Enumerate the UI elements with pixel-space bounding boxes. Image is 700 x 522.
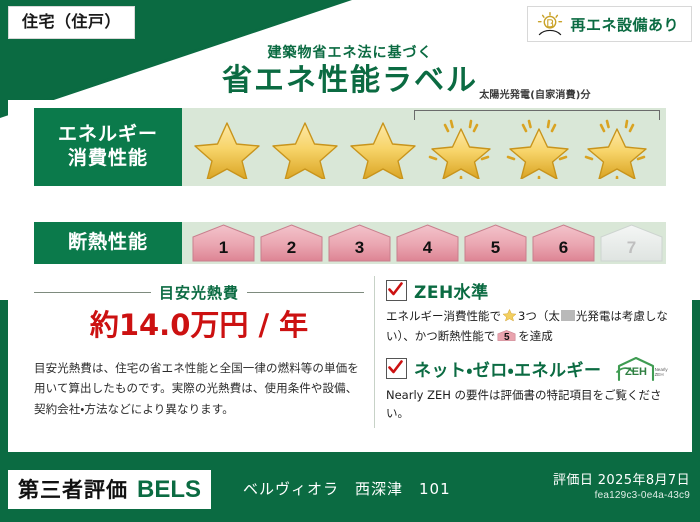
house-level-number: 4 — [394, 238, 461, 258]
house-icon: 2 — [258, 224, 325, 262]
record-id: fea129c3-0e4a-43c9 — [553, 490, 690, 501]
solar-generation-caption: 太陽光発電(自家消費)分 — [410, 86, 660, 101]
zeh-panel: ZEH水準 エネルギー消費性能で3つ（太光発電は考慮しない）、かつ断熱性能で5を… — [386, 278, 672, 433]
heading-rule-right — [247, 292, 364, 293]
house-icon-inline: 5 — [497, 328, 516, 343]
zeh-standard-title-row: ZEH水準 — [386, 278, 672, 303]
star-solar-icon — [580, 117, 654, 179]
energy-performance-tag: エネルギー 消費性能 — [34, 108, 182, 186]
net-zero-energy-item: ネット・ゼロ・エネルギー ZEH NearlyZEH Nearly ZEH の要… — [386, 356, 672, 423]
energy-stars-panel: 太陽光発電(自家消費)分 — [182, 108, 666, 186]
house-level-number: 6 — [530, 238, 597, 258]
utility-cost-heading-row: 目安光熱費 — [34, 282, 364, 303]
house-icon-inactive: 7 — [598, 224, 665, 262]
heading-rule-left — [34, 292, 151, 293]
insulation-levels-panel: 1 2 3 — [182, 222, 666, 264]
energy-performance-label: 住宅（住戸） 再エネ設備あり 建築物省エネ法に基づく 省エネ性能ラベル — [0, 0, 700, 522]
label-main-card: エネルギー 消費性能 太陽光発電(自家消費)分 — [8, 100, 692, 452]
evaluation-date-label: 評価日 — [553, 473, 593, 488]
checkmark-icon — [386, 358, 407, 379]
renewable-equipment-badge: 再エネ設備あり — [527, 6, 692, 42]
utility-cost-heading: 目安光熱費 — [159, 282, 239, 303]
svg-text:ZEH: ZEH — [625, 366, 647, 378]
third-party-evaluation-badge: 第三者評価 BELS — [8, 470, 211, 509]
insulation-level-scale: 1 2 3 — [190, 224, 665, 262]
insulation-tag-label: 断熱性能 — [68, 231, 148, 255]
sun-icon — [537, 12, 563, 36]
panel-divider — [374, 276, 375, 428]
redacted-text-box — [561, 310, 575, 321]
renewable-equipment-label: 再エネ設備あり — [570, 14, 679, 35]
footer-meta: 評価日 2025年8月7日 fea129c3-0e4a-43c9 — [553, 469, 690, 501]
energy-tag-line2: 消費性能 — [68, 147, 148, 171]
utility-cost-block: 目安光熱費 約14.0万円 / 年 目安光熱費は、住宅の省エネ性能と全国一律の燃… — [34, 282, 364, 419]
star-icon — [346, 117, 420, 179]
house-level-number: 7 — [598, 238, 665, 258]
utility-cost-value: 約14.0万円 / 年 — [34, 309, 364, 342]
evaluation-date-value: 2025年8月7日 — [598, 473, 690, 488]
star-solar-icon — [424, 117, 498, 179]
utility-cost-note: 目安光熱費は、住宅の省エネ性能と全国一律の燃料等の単価を用いて算出したものです。… — [34, 358, 364, 418]
dwelling-type-label: 住宅（住戸） — [22, 12, 121, 31]
energy-star-rating — [190, 117, 654, 179]
star-icon-inline — [502, 307, 517, 327]
dwelling-type-badge: 住宅（住戸） — [8, 6, 135, 39]
house-icon: 3 — [326, 224, 393, 262]
net-zero-title-row: ネット・ゼロ・エネルギー ZEH NearlyZEH — [386, 356, 672, 382]
zeh-desc-part4: を達成 — [518, 329, 553, 343]
house-level-number: 1 — [190, 238, 257, 258]
house-level-number: 5 — [497, 330, 516, 346]
zeh-standard-description: エネルギー消費性能で3つ（太光発電は考慮しない）、かつ断熱性能で5を達成 — [386, 307, 672, 346]
property-name: ベルヴィオラ 西深津 101 — [243, 478, 451, 499]
zeh-logo-icon: ZEH NearlyZEH — [615, 356, 661, 382]
zeh-desc-part2: 3つ（太 — [518, 309, 560, 323]
house-icon: 5 — [462, 224, 529, 262]
house-icon: 4 — [394, 224, 461, 262]
net-zero-title: ネット・ゼロ・エネルギー — [414, 356, 602, 381]
third-party-evaluation-label: 第三者評価 — [18, 474, 128, 504]
energy-performance-row: エネルギー 消費性能 太陽光発電(自家消費)分 — [34, 108, 666, 186]
checkmark-icon — [386, 280, 407, 301]
house-level-number: 3 — [326, 238, 393, 258]
house-icon: 6 — [530, 224, 597, 262]
insulation-performance-row: 断熱性能 1 — [34, 222, 666, 264]
star-icon — [268, 117, 342, 179]
insulation-performance-tag: 断熱性能 — [34, 222, 182, 264]
zeh-desc-part1: エネルギー消費性能で — [386, 309, 501, 323]
evaluation-date: 評価日 2025年8月7日 — [553, 469, 690, 488]
bels-logo-text: BELS — [137, 476, 201, 504]
net-zero-description: Nearly ZEH の要件は評価書の特記項目をご覧ください。 — [386, 386, 672, 423]
label-footer: 第三者評価 BELS ベルヴィオラ 西深津 101 評価日 2025年8月7日 … — [0, 460, 700, 522]
energy-tag-line1: エネルギー — [58, 123, 158, 147]
house-icon: 1 — [190, 224, 257, 262]
star-solar-icon — [502, 117, 576, 179]
zeh-standard-title: ZEH水準 — [414, 278, 489, 303]
star-icon — [190, 117, 264, 179]
zeh-logo-subtext: NearlyZEH — [655, 367, 668, 377]
zeh-standard-item: ZEH水準 エネルギー消費性能で3つ（太光発電は考慮しない）、かつ断熱性能で5を… — [386, 278, 672, 346]
house-level-number: 5 — [462, 238, 529, 258]
house-level-number: 2 — [258, 238, 325, 258]
label-subtitle: 建築物省エネ法に基づく — [0, 42, 700, 62]
